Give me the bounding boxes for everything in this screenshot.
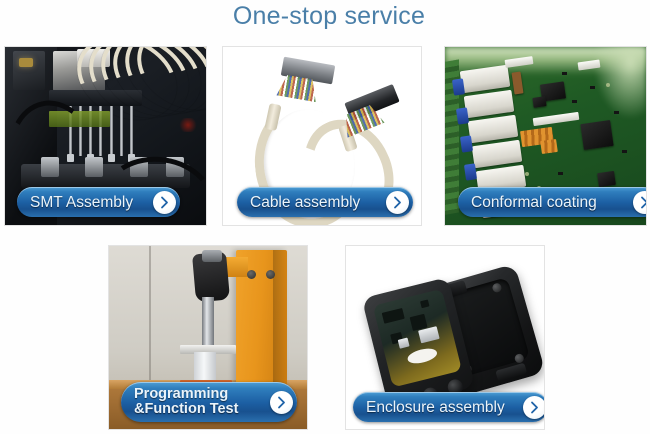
service-label-smt-assembly: SMT Assembly [30, 195, 133, 210]
chevron-right-icon[interactable] [633, 191, 647, 214]
one-stop-service-panel: One-stop service [0, 0, 650, 434]
chevron-right-icon[interactable] [523, 396, 545, 419]
service-label-line-2: &Function Test [134, 402, 238, 417]
chevron-right-icon[interactable] [270, 391, 293, 414]
service-card-programming-function-test[interactable]: Programming &Function Test [108, 245, 308, 430]
service-card-conformal-coating[interactable]: Conformal coating [444, 46, 647, 226]
service-label-cable-assembly: Cable assembly [250, 195, 360, 210]
service-card-enclosure-assembly[interactable]: Enclosure assembly [345, 245, 545, 430]
service-button-cable-assembly[interactable]: Cable assembly [237, 187, 413, 217]
service-button-conformal-coating[interactable]: Conformal coating [458, 187, 647, 217]
chevron-right-icon[interactable] [386, 191, 409, 214]
service-label-line-1: Programming [134, 386, 228, 402]
service-button-smt-assembly[interactable]: SMT Assembly [17, 187, 180, 217]
service-button-programming-function-test[interactable]: Programming &Function Test [121, 382, 297, 422]
service-label-programming-function-test: Programming &Function Test [134, 387, 238, 417]
page-title: One-stop service [0, 2, 650, 31]
service-label-conformal-coating: Conformal coating [471, 195, 597, 210]
service-label-enclosure-assembly: Enclosure assembly [366, 400, 505, 415]
service-button-enclosure-assembly[interactable]: Enclosure assembly [353, 392, 545, 422]
service-card-smt-assembly[interactable]: SMT Assembly [4, 46, 207, 226]
service-card-cable-assembly[interactable]: Cable assembly [222, 46, 422, 226]
chevron-right-icon[interactable] [153, 191, 176, 214]
